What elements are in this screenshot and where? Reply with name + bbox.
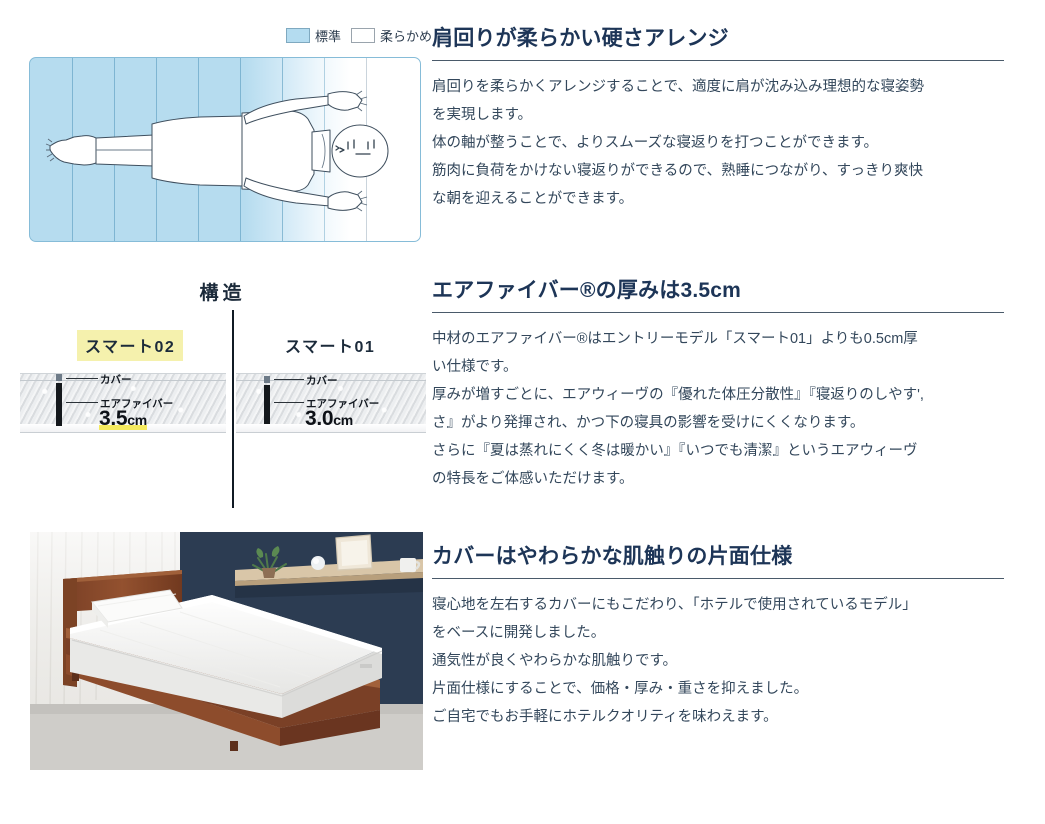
thickness-caliper-smart01 [263,376,271,424]
section-1-line-1: 肩回りを柔らかくアレンジすることで、適度に肩が沈み込み理想的な寝姿勢 [432,74,1004,102]
structure-comparison-diagram: 構造 スマート02 スマート01 カバー エアファイバー 3.5cm カバー エ… [20,278,425,508]
thickness-unit-smart02: cm [127,412,147,428]
section-3-line-5: ご自宅でもお手軽にホテルクオリティを味わえます。 [432,704,1004,732]
section-2-body: 中材のエアファイバー®はエントリーモデル「スマート01」よりも0.5cm厚 い仕… [432,326,1004,494]
leader-line-cover-smart01 [274,379,304,380]
section-1-body: 肩回りを柔らかくアレンジすることで、適度に肩が沈み込み理想的な寝姿勢 を実現しま… [432,74,1004,214]
section-1: 肩回りが柔らかい硬さアレンジ 肩回りを柔らかくアレンジすることで、適度に肩が沈み… [432,26,1004,214]
section-3-line-2: をベースに開発しました。 [432,620,1004,648]
section-3-heading: カバーはやわらかな肌触りの片面仕様 [432,544,1004,569]
section-3: カバーはやわらかな肌触りの片面仕様 寝心地を左右するカバーにもこだわり、「ホテル… [432,544,1004,732]
part-label-cover-smart01: カバー [306,373,338,388]
leader-line-fiber-smart01 [274,402,304,403]
section-3-line-1: 寝心地を左右するカバーにもこだわり、「ホテルで使用されているモデル」 [432,592,1004,620]
legend-swatch-soft [351,28,375,43]
thickness-unit-smart01: cm [333,412,353,428]
section-2: エアファイバー®の厚みは3.5cm 中材のエアファイバー®はエントリーモデル「ス… [432,278,1004,494]
product-feature-page: 標準 柔らかめ [0,0,1045,824]
section-3-line-4: 片面仕様にすることで、価格・厚み・重さを抑えました。 [432,676,1004,704]
firmness-legend: 標準 柔らかめ [286,26,432,45]
structure-divider [232,310,234,508]
bedroom-photo [30,532,423,770]
section-2-line-3: 厚みが増すごとに、エアウィーヴの『優れた体圧分散性』『寝返りのしやす', [432,382,1004,410]
part-label-cover-smart02: カバー [100,372,132,387]
legend-swatch-standard [286,28,310,43]
section-1-line-2: を実現します。 [432,102,1004,130]
thickness-value-smart02: 3.5cm [99,407,147,431]
section-2-heading: エアファイバー®の厚みは3.5cm [432,278,1004,303]
sleeping-person-figure [30,58,421,242]
section-2-line-1: 中材のエアファイバー®はエントリーモデル「スマート01」よりも0.5cm厚 [432,326,1004,354]
section-2-line-6: の特長をご体感いただけます。 [432,466,1004,494]
section-3-body: 寝心地を左右するカバーにもこだわり、「ホテルで使用されているモデル」 をベースに… [432,592,1004,732]
section-1-line-5: な朝を迎えることができます。 [432,186,1004,214]
legend-item-soft: 柔らかめ [351,26,432,45]
structure-title: 構造 [20,278,425,305]
thickness-value-smart01: 3.0cm [305,407,353,431]
legend-label-soft: 柔らかめ [380,26,432,45]
section-2-rule [432,312,1004,313]
section-1-rule [432,60,1004,61]
leader-line-cover-smart02 [66,378,98,379]
section-3-rule [432,578,1004,579]
thickness-caliper-smart02 [55,374,63,426]
legend-item-standard: 標準 [286,26,341,45]
section-1-line-4: 筋肉に負荷をかけない寝返りができるので、熟睡につながり、すっきり爽快 [432,158,1004,186]
section-2-line-4: さ』がより発揮され、かつ下の寝具の影響を受けにくくなります。 [432,410,1004,438]
mattress-topview-illustration [29,57,421,242]
section-1-heading: 肩回りが柔らかい硬さアレンジ [432,26,1004,51]
leader-line-fiber-smart02 [66,402,98,403]
model-label-smart01: スマート01 [277,330,383,361]
thickness-number-smart01: 3.0 [305,407,333,430]
legend-label-standard: 標準 [315,26,341,45]
section-1-line-3: 体の軸が整うことで、よりスムーズな寝返りを打つことができます。 [432,130,1004,158]
thickness-number-smart02: 3.5 [99,407,127,430]
section-2-line-2: い仕様です。 [432,354,1004,382]
section-2-line-5: さらに『夏は蒸れにくく冬は暖かい』『いつでも清潔』というエアウィーヴ [432,438,1004,466]
model-label-smart02: スマート02 [77,330,183,361]
section-3-line-3: 通気性が良くやわらかな肌触りです。 [432,648,1004,676]
